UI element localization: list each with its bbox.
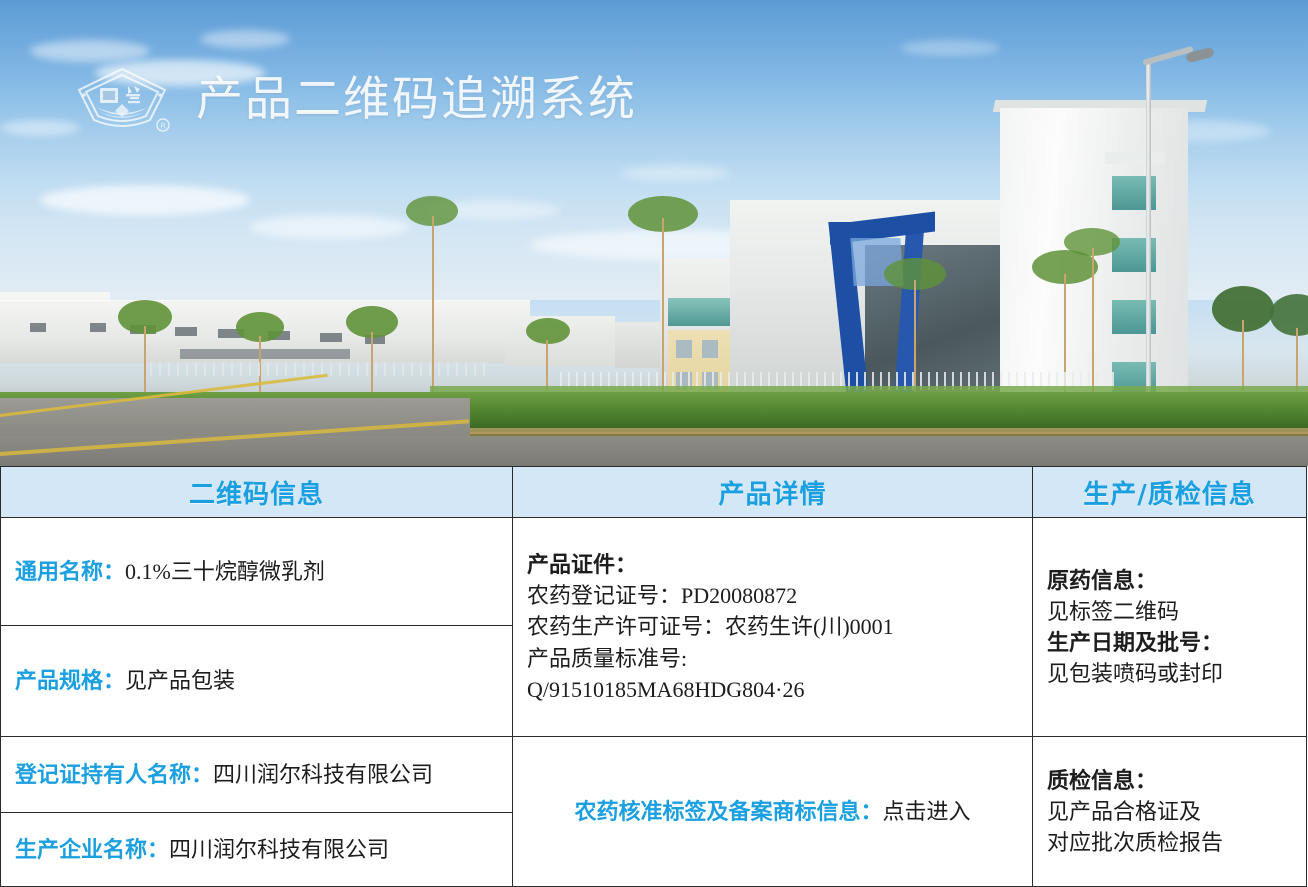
field-value: 0.1%三十烷醇微乳剂 xyxy=(125,559,325,584)
svg-text:R: R xyxy=(160,122,166,131)
table-header-qrcode: 二维码信息 xyxy=(1,467,513,518)
header-label: 生产/质检信息 xyxy=(1083,480,1256,510)
cell-quality-inspection: 质检信息： 见产品合格证及 对应批次质检报告 xyxy=(1033,737,1307,887)
field-value: 四川润尔科技有限公司 xyxy=(169,837,389,862)
tree xyxy=(608,196,718,396)
traceability-page: R 产品二维码追溯系统 二维码信息 产品详情 xyxy=(0,0,1308,887)
header-label: 产品详情 xyxy=(718,480,826,510)
cell-common-name: 通用名称：0.1%三十烷醇微乳剂 xyxy=(1,518,513,626)
guoguang-logo-icon: R xyxy=(70,64,174,134)
approved-label-text: 农药核准标签及备案商标信息： xyxy=(574,799,882,824)
cert-title: 产品证件： xyxy=(527,549,1018,580)
cloud xyxy=(0,120,80,136)
traceability-table: 二维码信息 产品详情 生产/质检信息 通用名称：0.1%三十烷醇微乳剂 xyxy=(0,466,1307,887)
table-row: 登记证持有人名称：四川润尔科技有限公司 农药核准标签及备案商标信息：点击进入 质… xyxy=(1,737,1307,813)
enter-link[interactable]: 点击进入 xyxy=(883,799,971,824)
cloud xyxy=(40,185,250,215)
field-registration-holder: 登记证持有人名称：四川润尔科技有限公司 xyxy=(15,759,498,790)
cloud xyxy=(200,30,290,48)
table-row: 通用名称：0.1%三十烷醇微乳剂 产品证件： 农药登记证号：PD20080872… xyxy=(1,518,1307,626)
road-curb xyxy=(430,428,1308,434)
cert-line: 产品质量标准号: xyxy=(527,643,1018,674)
field-manufacturer: 生产企业名称：四川润尔科技有限公司 xyxy=(15,834,498,865)
cloud xyxy=(250,215,410,239)
batch-date-value: 见包装喷码或封印 xyxy=(1047,658,1292,689)
quality-label: 质检信息： xyxy=(1047,765,1292,796)
field-specification: 产品规格：见产品包装 xyxy=(15,665,498,696)
hero-banner: R 产品二维码追溯系统 xyxy=(0,0,1308,466)
page-title: 产品二维码追溯系统 xyxy=(196,76,637,123)
cell-registration-holder: 登记证持有人名称：四川润尔科技有限公司 xyxy=(1,737,513,813)
cloud xyxy=(900,40,1000,56)
batch-date-label: 生产日期及批号： xyxy=(1047,627,1292,658)
cloud xyxy=(620,165,730,181)
field-approved-label[interactable]: 农药核准标签及备案商标信息：点击进入 xyxy=(527,796,1018,827)
cell-raw-material-and-batch: 原药信息： 见标签二维码 生产日期及批号： 见包装喷码或封印 xyxy=(1033,518,1307,737)
cell-approved-label-link[interactable]: 农药核准标签及备案商标信息：点击进入 xyxy=(513,737,1033,887)
field-label: 通用名称： xyxy=(15,559,125,584)
cert-line: Q/91510185MA68HDG804·26 xyxy=(527,674,1018,705)
traceability-table-wrap: 二维码信息 产品详情 生产/质检信息 通用名称：0.1%三十烷醇微乳剂 xyxy=(0,466,1308,887)
street-lamp-pole xyxy=(1146,62,1151,422)
header-label: 二维码信息 xyxy=(189,480,324,510)
table-header-row: 二维码信息 产品详情 生产/质检信息 xyxy=(1,467,1307,518)
table-header-product: 产品详情 xyxy=(513,467,1033,518)
tree xyxy=(110,300,180,396)
cell-product-certificates: 产品证件： 农药登记证号：PD20080872 农药生产许可证号：农药生许(川)… xyxy=(513,518,1033,737)
cert-line: 农药生产许可证号：农药生许(川)0001 xyxy=(527,611,1018,642)
cell-manufacturer: 生产企业名称：四川润尔科技有限公司 xyxy=(1,813,513,887)
raw-material-label: 原药信息： xyxy=(1047,565,1292,596)
cloud xyxy=(30,40,150,62)
quality-line: 见产品合格证及 xyxy=(1047,796,1292,827)
field-label: 产品规格： xyxy=(15,668,125,693)
tower-fin xyxy=(1105,152,1165,164)
field-value: 四川润尔科技有限公司 xyxy=(213,762,433,787)
brand-block: R 产品二维码追溯系统 xyxy=(70,64,637,134)
cert-line: 农药登记证号：PD20080872 xyxy=(527,580,1018,611)
quality-line: 对应批次质检报告 xyxy=(1047,827,1292,858)
raw-material-value: 见标签二维码 xyxy=(1047,596,1292,627)
field-common-name: 通用名称：0.1%三十烷醇微乳剂 xyxy=(15,556,498,587)
field-value: 见产品包装 xyxy=(125,668,235,693)
field-label: 登记证持有人名称： xyxy=(15,762,213,787)
table-header-production: 生产/质检信息 xyxy=(1033,467,1307,518)
field-label: 生产企业名称： xyxy=(15,837,169,862)
cell-specification: 产品规格：见产品包装 xyxy=(1,626,513,737)
